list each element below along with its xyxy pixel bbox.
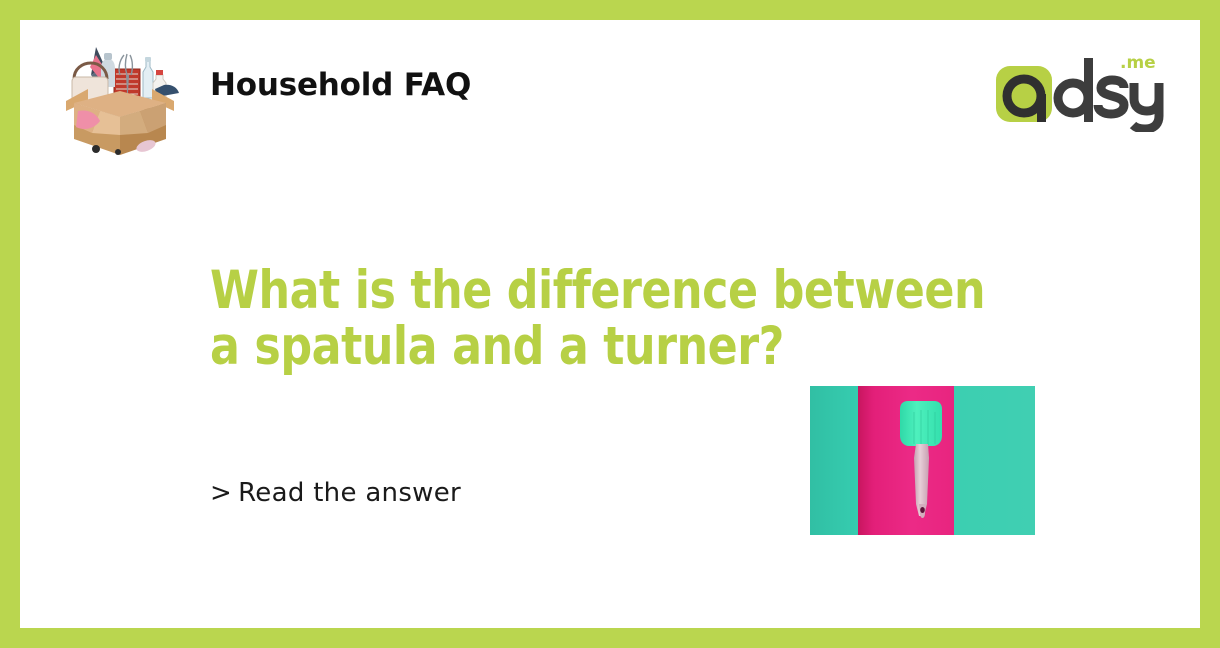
page-title: Household FAQ — [210, 67, 471, 103]
chevron-right-icon: > — [210, 478, 232, 508]
adsy-logo[interactable]: .me — [994, 50, 1166, 132]
headline-line-1: What is the difference between — [210, 263, 1047, 319]
poster-content-area: Household FAQ .me — [20, 20, 1200, 628]
svg-text:.me: .me — [1120, 53, 1156, 73]
article-headline: What is the difference between a spatula… — [210, 263, 1047, 375]
read-the-answer-link[interactable]: >Read the answer — [210, 478, 461, 508]
spatula-photo — [810, 386, 1035, 535]
page-header: Household FAQ .me — [20, 20, 1200, 170]
cardboard-box-of-household-items-icon — [52, 25, 188, 161]
read-the-answer-label: Read the answer — [238, 478, 461, 508]
headline-line-2: a spatula and a turner? — [210, 319, 1047, 375]
poster-canvas: Household FAQ .me — [0, 0, 1220, 648]
